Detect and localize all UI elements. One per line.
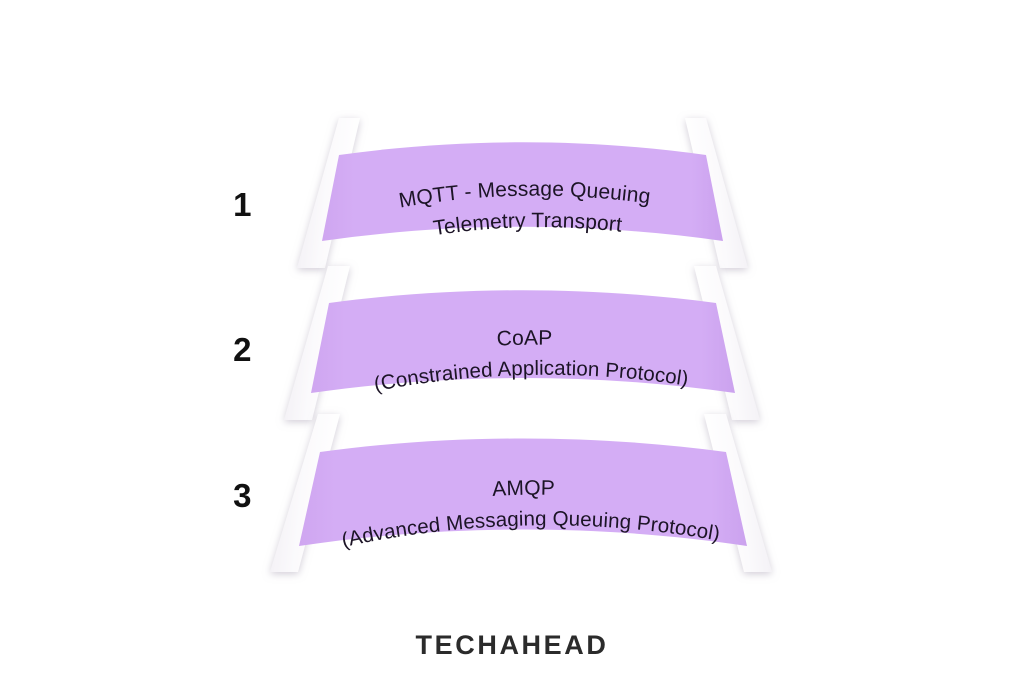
ribbon-label-2-line1: CoAP	[496, 327, 552, 351]
infographic-canvas: MQTT - Message Queuing Telemetry Transpo…	[0, 0, 1024, 683]
step-number-3: 3	[218, 479, 266, 512]
techahead-logo-text: TECHAHEAD	[416, 630, 609, 660]
ribbon-row-3: AMQP (Advanced Messaging Queuing Protoco…	[0, 398, 1024, 588]
brand-logo: TECHAHEAD	[0, 628, 1024, 664]
techahead-logo-mark: TECHAHEAD	[382, 628, 642, 664]
ribbon-label-3-line1: AMQP	[492, 477, 556, 501]
ribbon-stack: MQTT - Message Queuing Telemetry Transpo…	[0, 0, 1024, 620]
ribbon-graphic-3: AMQP (Advanced Messaging Queuing Protoco…	[0, 398, 1024, 588]
step-number-1: 1	[218, 188, 266, 221]
step-number-2: 2	[218, 333, 266, 366]
